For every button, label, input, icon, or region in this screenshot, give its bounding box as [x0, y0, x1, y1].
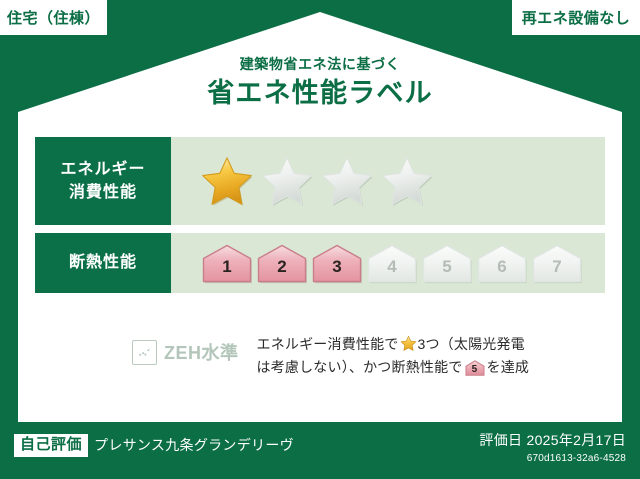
grade-badge-value: 6: [497, 258, 506, 284]
star-empty-icon: [261, 155, 313, 207]
zeh-section: ZEH水準 エネルギー消費性能で3つ（太陽光発電は考慮しない）、かつ断熱性能で5…: [35, 333, 605, 379]
label-id: 670d1613-32a6-4528: [479, 453, 626, 464]
label-title-block: 建築物省エネ法に基づく 省エネ性能ラベル: [0, 57, 640, 107]
evaluation-date: 評価日 2025年2月17日: [479, 430, 626, 450]
label-footer: 自己評価 プレサンス九条グランデリーヴ 評価日 2025年2月17日 670d1…: [0, 422, 640, 479]
grade-badge-value: 2: [277, 258, 286, 284]
grade-badge: 7: [531, 243, 583, 284]
star-rating: [201, 155, 433, 207]
star-filled-icon: [201, 155, 253, 207]
grade-badge: 6: [476, 243, 528, 284]
inline-grade-badge: 5: [465, 360, 485, 376]
grade-badge-value: 1: [222, 258, 231, 284]
row-energy-label-line1: エネルギー: [60, 158, 145, 181]
title-main: 省エネ性能ラベル: [0, 80, 640, 107]
inline-grade-badge-value: 5: [465, 365, 485, 375]
zeh-desc-part2: 3つ（太陽光発電: [418, 336, 525, 352]
grade-badge: 1: [201, 243, 253, 284]
grade-badge: 4: [366, 243, 418, 284]
grade-badges: 1234567: [201, 243, 583, 284]
energy-performance-label: 住宅（住棟） 再エネ設備なし 建築物省エネ法に基づく 省エネ性能ラベル エネルギ…: [0, 0, 640, 479]
zeh-desc-part3: は考慮しない）、かつ断熱性能で: [257, 359, 463, 375]
zeh-mark-label: ZEH水準: [164, 339, 239, 365]
star-empty-icon: [321, 155, 373, 207]
footer-left-group: 自己評価 プレサンス九条グランデリーヴ: [14, 434, 294, 457]
row-energy-body: [171, 137, 605, 225]
grade-badge-value: 7: [552, 258, 561, 284]
zeh-desc-part4: を達成: [487, 359, 530, 375]
grade-badge: 5: [421, 243, 473, 284]
grade-badge-value: 5: [442, 258, 451, 284]
grade-badge: 3: [311, 243, 363, 284]
zeh-house-icon: [132, 340, 157, 365]
row-energy-label: エネルギー 消費性能: [35, 137, 171, 225]
tag-building-type-label: 住宅（住棟）: [7, 7, 100, 28]
footer-right-group: 評価日 2025年2月17日 670d1613-32a6-4528: [479, 430, 626, 464]
row-energy-performance: エネルギー 消費性能: [35, 137, 605, 225]
row-insulation-body: 1234567: [171, 233, 605, 293]
grade-badge: 2: [256, 243, 308, 284]
self-evaluation-badge: 自己評価: [14, 434, 88, 457]
tag-renewable-energy-label: 再エネ設備なし: [522, 7, 631, 28]
tag-building-type: 住宅（住棟）: [0, 0, 107, 35]
tag-renewable-energy: 再エネ設備なし: [512, 0, 640, 35]
row-insulation-label: 断熱性能: [35, 233, 171, 293]
zeh-desc-part1: エネルギー消費性能で: [257, 336, 399, 352]
zeh-description: エネルギー消費性能で3つ（太陽光発電は考慮しない）、かつ断熱性能で5を達成: [239, 333, 606, 379]
title-subtitle: 建築物省エネ法に基づく: [0, 57, 640, 71]
grade-badge-value: 4: [387, 258, 396, 284]
building-name: プレサンス九条グランデリーヴ: [94, 435, 294, 455]
rating-rows: エネルギー 消費性能 断熱性能 1234567: [35, 137, 605, 301]
inline-star-icon: [400, 335, 417, 352]
row-energy-label-line2: 消費性能: [69, 181, 137, 204]
row-insulation-performance: 断熱性能 1234567: [35, 233, 605, 293]
star-empty-icon: [381, 155, 433, 207]
grade-badge-value: 3: [332, 258, 341, 284]
zeh-mark: ZEH水準: [35, 333, 239, 365]
row-insulation-label-line1: 断熱性能: [69, 251, 137, 274]
